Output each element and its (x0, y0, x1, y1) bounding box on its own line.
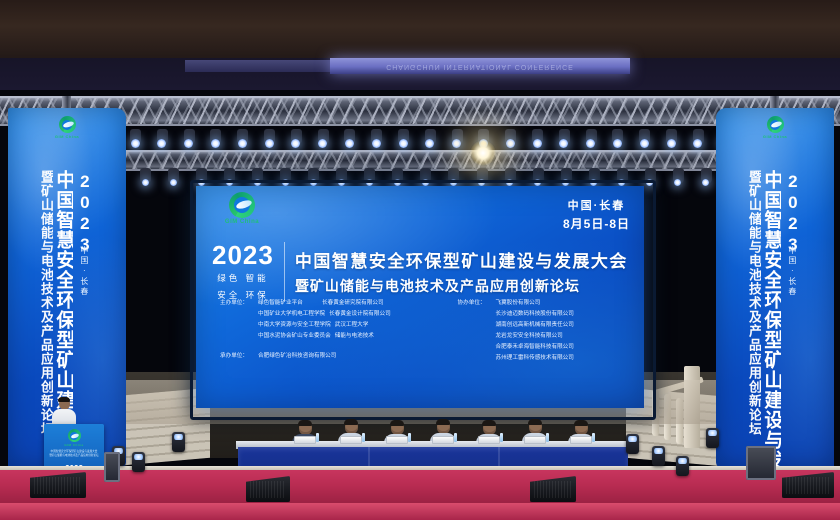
stage-light (238, 139, 247, 148)
banner-right: GIM China 2023 中国·长春 中国智慧安全环保型矿山建设与发展大会 … (716, 108, 834, 468)
stage-light (399, 139, 408, 148)
name-plate (432, 436, 454, 444)
banner-left-year: 2023 (74, 172, 94, 242)
name-plate (294, 436, 316, 444)
banner-left-title-sub: 暨矿山储能与电池技术及产品应用创新论坛 (40, 170, 53, 466)
water-bottle (592, 433, 595, 442)
stage-light (211, 139, 220, 148)
ceiling-led-strip-secondary (185, 60, 345, 72)
banner-left-city: 中国·长春 (79, 246, 90, 297)
moving-head-light-4 (626, 434, 639, 454)
hero-spotlight (470, 140, 496, 166)
stage-light (506, 139, 515, 148)
logo-wordmark: GIM China (64, 443, 83, 447)
banner-right-city: 中国·长春 (787, 246, 798, 297)
name-plate (478, 436, 500, 444)
name-plate (340, 436, 362, 444)
stage-light (131, 139, 140, 148)
moving-head-light-2 (132, 452, 145, 472)
name-plate (524, 436, 546, 444)
logo-wordmark: GIM China (55, 134, 79, 139)
lighting-truss-upper (0, 96, 840, 126)
podium-line-2: 暨矿山储能与电池技术及产品应用创新论坛 (47, 454, 101, 458)
stage-light (318, 139, 327, 148)
moving-head-light-3 (172, 432, 185, 452)
banner-right-logo: GIM China (746, 116, 804, 143)
stage-light (170, 179, 177, 186)
stage-light (667, 139, 676, 148)
stage-light (533, 139, 542, 148)
water-bottle (362, 433, 365, 442)
ceiling-led-strip-text: CHANGCHUN INTERNATIONAL CONFERENCE (330, 58, 630, 74)
ceiling-led-strip: CHANGCHUN INTERNATIONAL CONFERENCE (330, 58, 630, 74)
stage-light (425, 139, 434, 148)
conference-stage-photo: CHANGCHUN INTERNATIONAL CONFERENCE GIM C… (0, 0, 840, 520)
moving-head-light-7 (706, 428, 719, 448)
stage-light (702, 179, 709, 186)
stage-light (265, 139, 274, 148)
water-bottle (500, 433, 503, 442)
stage-light (345, 139, 354, 148)
name-plate (570, 436, 592, 444)
banner-right-title-sub: 暨矿山储能与电池技术及产品应用创新论坛 (748, 170, 761, 466)
name-plate (386, 436, 408, 444)
stage-light (291, 139, 300, 148)
moving-head-light-6 (676, 456, 689, 476)
banner-right-title-main: 中国智慧安全环保型矿山建设与发展大会 (762, 170, 781, 466)
stage-light (640, 139, 649, 148)
banner-left-logo: GIM China (38, 116, 96, 143)
stage-light (372, 139, 381, 148)
stage-light (184, 139, 193, 148)
led-screen-frame (190, 180, 656, 420)
water-bottle (316, 433, 319, 442)
stage-light (559, 139, 568, 148)
stage-light (452, 139, 461, 148)
banner-right-year: 2023 (782, 172, 802, 242)
stage-light (693, 139, 702, 148)
red-carpet (0, 503, 840, 520)
stage-light (142, 179, 149, 186)
ceiling-soffit (0, 0, 840, 58)
equipment-case-left (104, 452, 120, 482)
water-bottle (546, 433, 549, 442)
stage-light (674, 179, 681, 186)
logo-wordmark: GIM China (763, 134, 787, 139)
water-bottle (408, 433, 411, 442)
equipment-case-right (746, 446, 776, 480)
moving-head-light-5 (652, 446, 665, 466)
water-bottle (454, 433, 457, 442)
stage-light (613, 139, 622, 148)
stage-light (157, 139, 166, 148)
podium-logo: GIM China (59, 429, 89, 451)
stage-light (586, 139, 595, 148)
